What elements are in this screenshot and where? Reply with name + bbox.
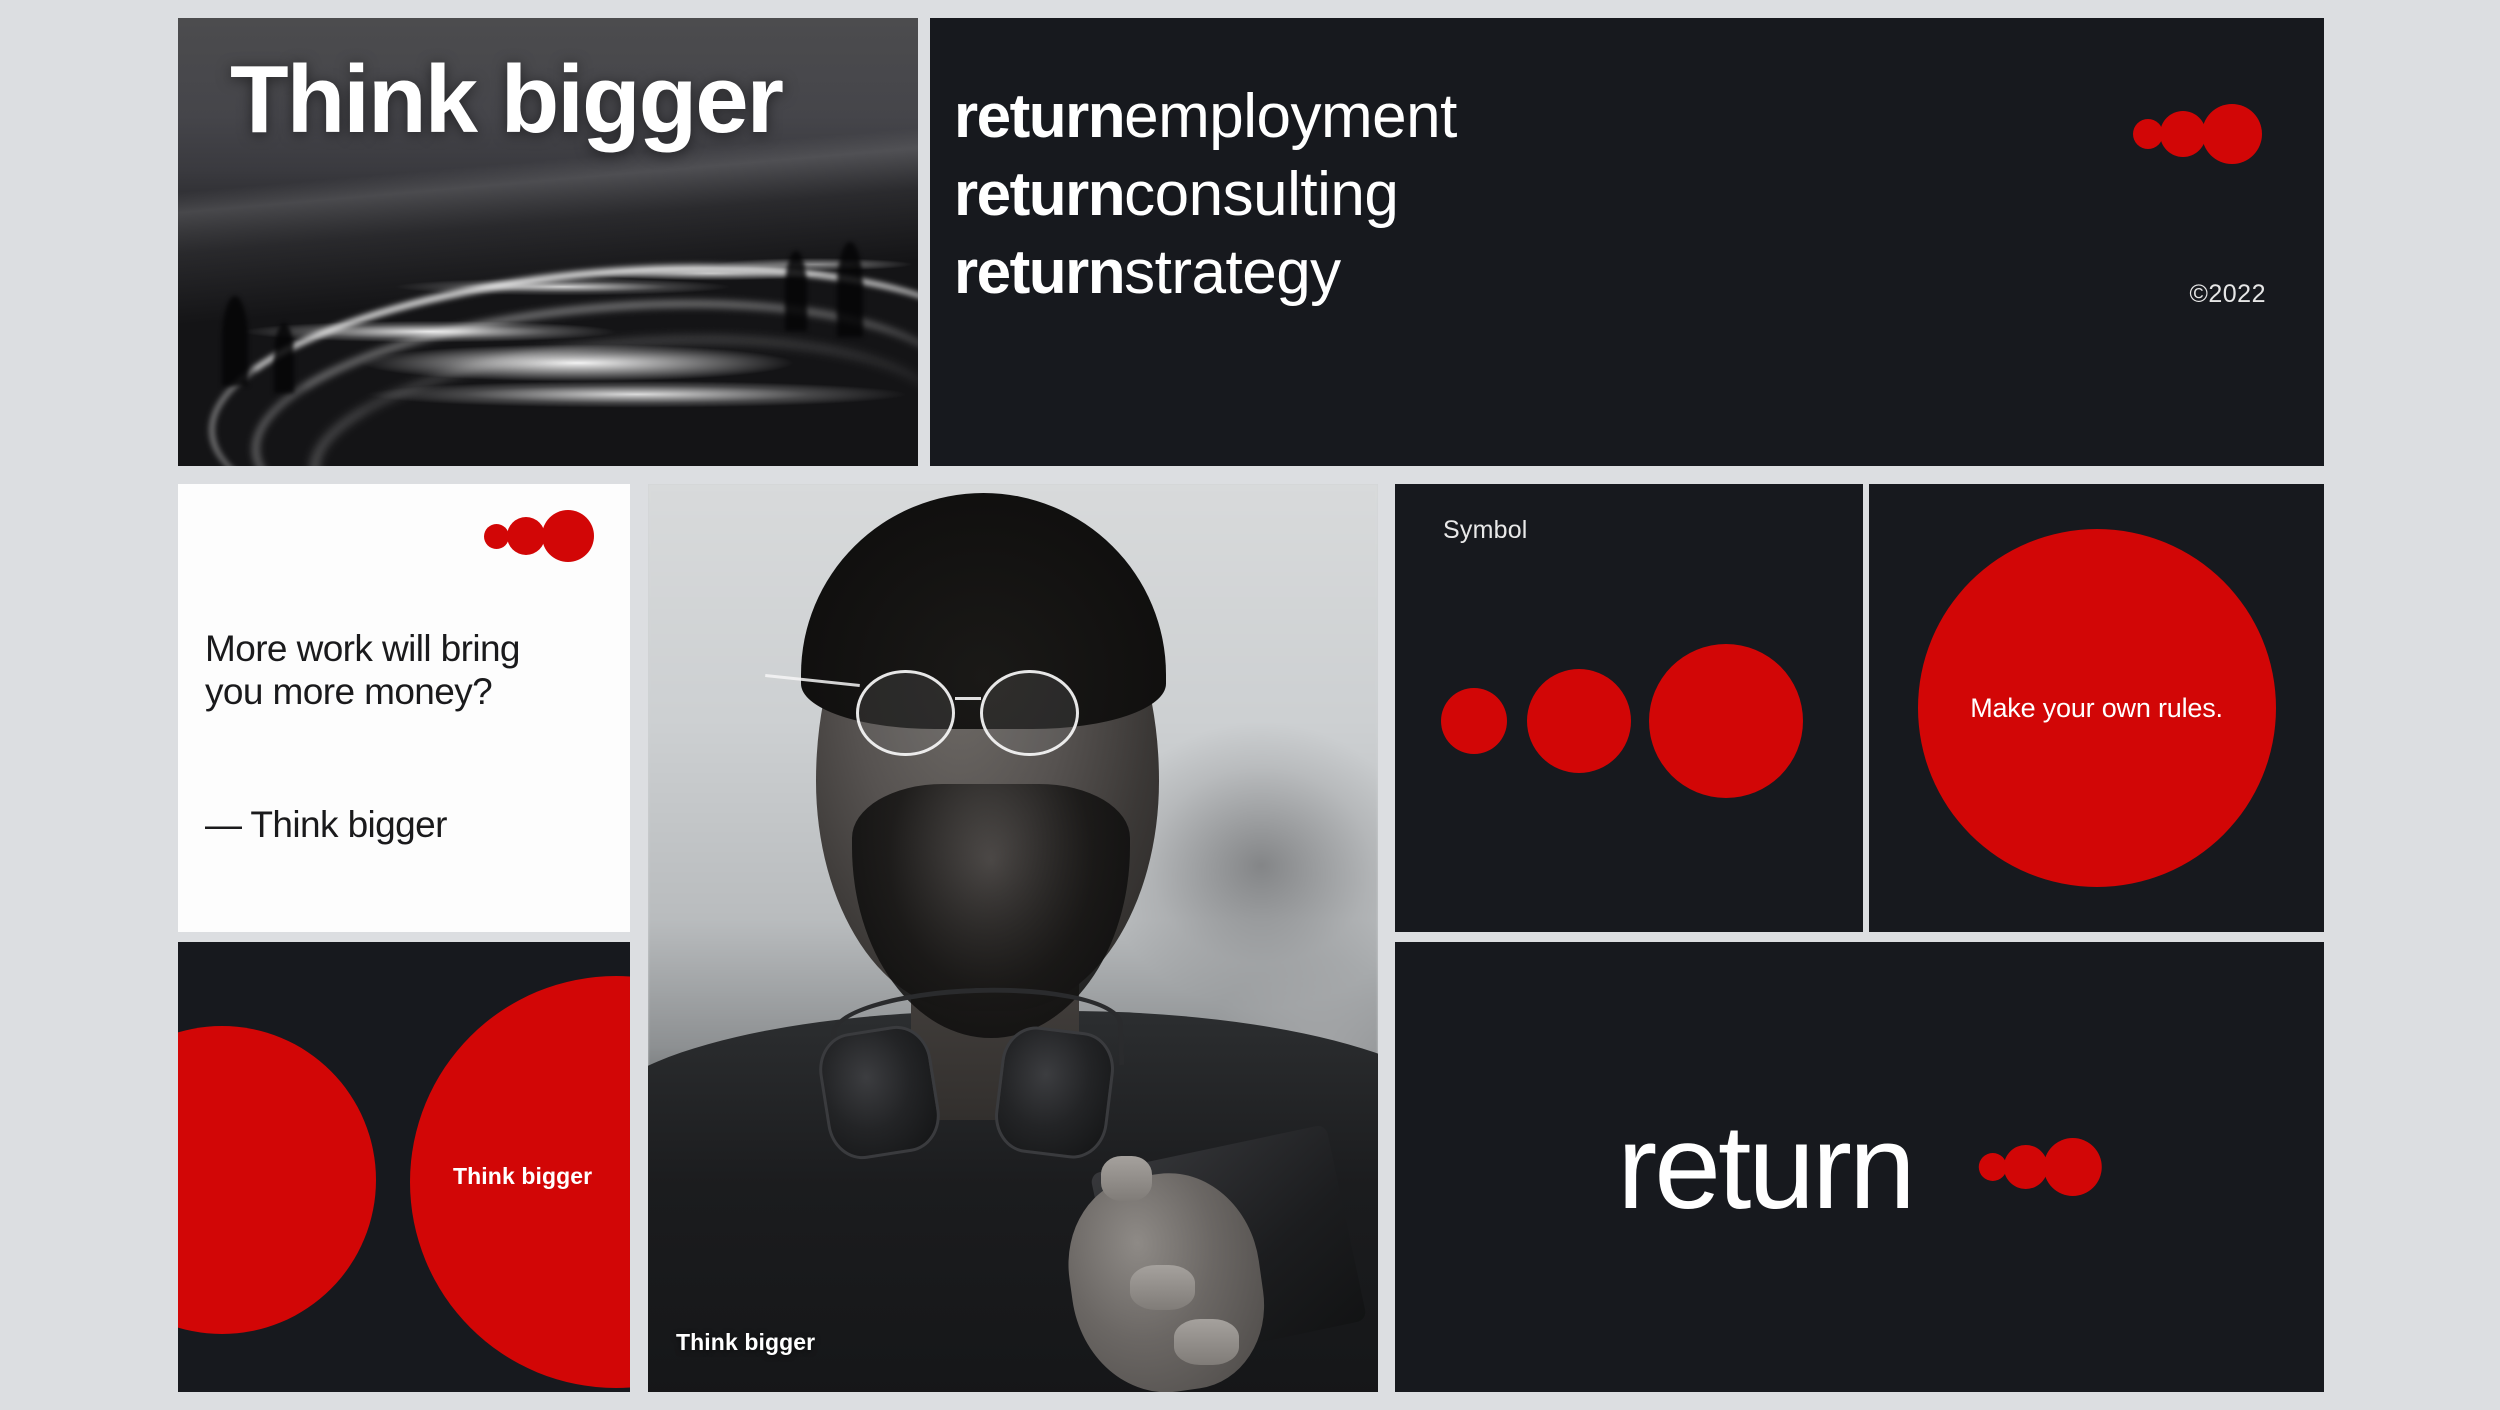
logo-wordmark: return: [1617, 1107, 1912, 1227]
quote-attribution: — Think bigger: [205, 804, 447, 846]
circles-card-label: Think bigger: [453, 1163, 592, 1190]
red-circle-left-icon: [178, 1026, 376, 1334]
three-red-dots-icon: [2133, 104, 2262, 164]
symbol-label: Symbol: [1443, 516, 1528, 545]
dot-medium-icon: [1527, 669, 1631, 773]
red-circle-icon: Make your own rules.: [1918, 529, 2276, 887]
dot-medium-icon: [2160, 111, 2206, 157]
dot-large-icon: [542, 510, 594, 562]
finger-shape: [1101, 1156, 1152, 1201]
service-name: consulting: [1124, 160, 1398, 229]
service-line: returnstrategy: [954, 234, 1457, 312]
dot-large-icon: [2044, 1138, 2102, 1196]
headphone-right-cup-icon: [991, 1022, 1119, 1162]
services-list: returnemployment returnconsulting return…: [954, 78, 1457, 312]
rules-panel: Make your own rules.: [1869, 484, 2324, 932]
finger-shape: [1174, 1319, 1240, 1364]
hero-panel: Think bigger: [178, 18, 918, 466]
service-line: returnconsulting: [954, 156, 1457, 234]
dot-medium-icon: [2004, 1145, 2048, 1189]
glasses-right-lens-icon: [980, 670, 1079, 756]
services-panel: returnemployment returnconsulting return…: [930, 18, 2324, 466]
quote-card: More work will bring you more money? — T…: [178, 484, 630, 932]
service-line: returnemployment: [954, 78, 1457, 156]
service-name: strategy: [1124, 238, 1341, 307]
dot-medium-icon: [507, 517, 545, 555]
finger-shape: [1130, 1265, 1196, 1310]
dot-small-icon: [1441, 688, 1507, 754]
tree-silhouette: [837, 242, 863, 337]
dot-small-icon: [484, 524, 509, 549]
logo-panel: return: [1395, 942, 2324, 1392]
service-brand-word: return: [954, 82, 1124, 151]
three-red-dots-icon: [1441, 644, 1803, 798]
tree-silhouette: [222, 296, 248, 386]
brand-board: Think bigger returnemployment returncons…: [0, 0, 2500, 1410]
dot-small-icon: [1979, 1153, 2007, 1181]
tree-silhouette: [274, 323, 294, 393]
tree-silhouette: [785, 251, 807, 331]
service-name: employment: [1124, 82, 1457, 151]
hero-title: Think bigger: [230, 52, 782, 148]
dot-small-icon: [2133, 119, 2163, 149]
rules-text: Make your own rules.: [1970, 693, 2223, 724]
portrait-label: Think bigger: [676, 1329, 815, 1356]
three-red-dots-icon: [1979, 1138, 2102, 1196]
logo-lockup: return: [1617, 1107, 2101, 1227]
dot-large-icon: [1649, 644, 1803, 798]
quote-text: More work will bring you more money?: [205, 627, 535, 714]
glasses-bridge-icon: [955, 697, 981, 700]
three-red-dots-icon: [484, 510, 594, 562]
symbol-panel: Symbol: [1395, 484, 1863, 932]
copyright-text: ©2022: [2189, 280, 2266, 309]
circles-card: Think bigger: [178, 942, 630, 1392]
portrait-photo-panel: Think bigger: [648, 484, 1378, 1392]
service-brand-word: return: [954, 238, 1124, 307]
service-brand-word: return: [954, 160, 1124, 229]
dot-large-icon: [2202, 104, 2262, 164]
glasses-left-lens-icon: [856, 670, 955, 756]
